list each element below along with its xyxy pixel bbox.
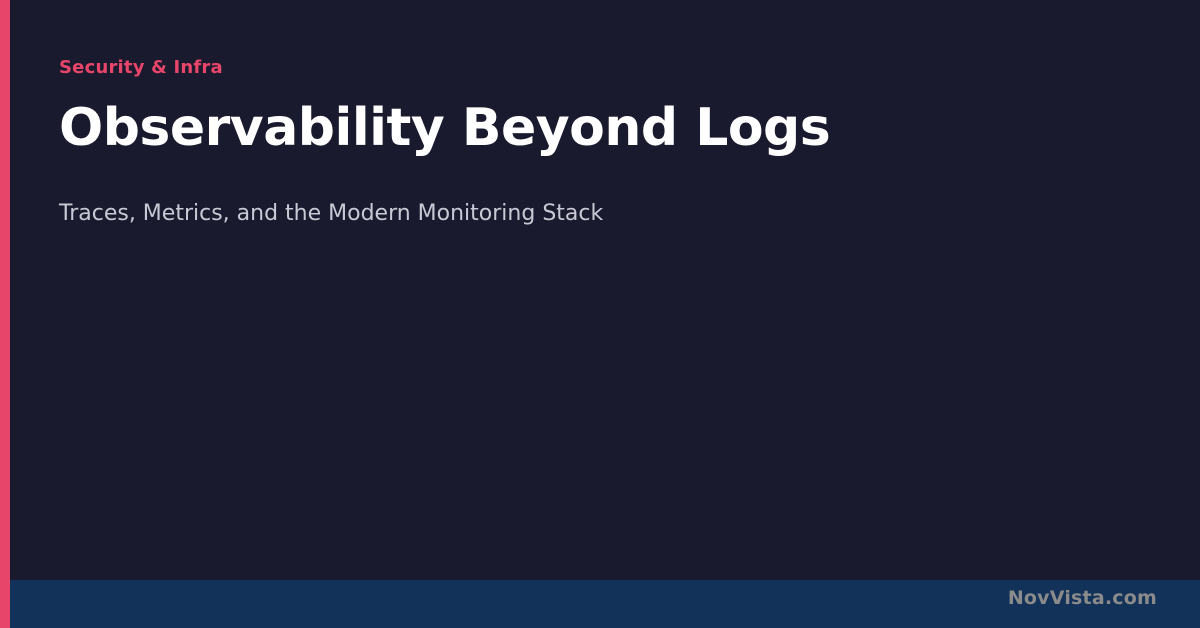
page-subtitle: Traces, Metrics, and the Modern Monitori… — [59, 200, 1119, 229]
banner-content: Security & Infra Observability Beyond Lo… — [59, 58, 1119, 229]
category-kicker: Security & Infra — [59, 58, 1119, 78]
article-banner-card: Security & Infra Observability Beyond Lo… — [0, 0, 1200, 628]
footer-bar: NovVista.com — [0, 580, 1200, 628]
left-accent-bar — [0, 0, 10, 628]
banner-stage: Security & Infra Observability Beyond Lo… — [0, 0, 1200, 580]
page-title: Observability Beyond Logs — [59, 100, 1119, 156]
footer-content: NovVista.com — [1008, 588, 1157, 609]
site-name-label: NovVista.com — [1008, 588, 1157, 609]
